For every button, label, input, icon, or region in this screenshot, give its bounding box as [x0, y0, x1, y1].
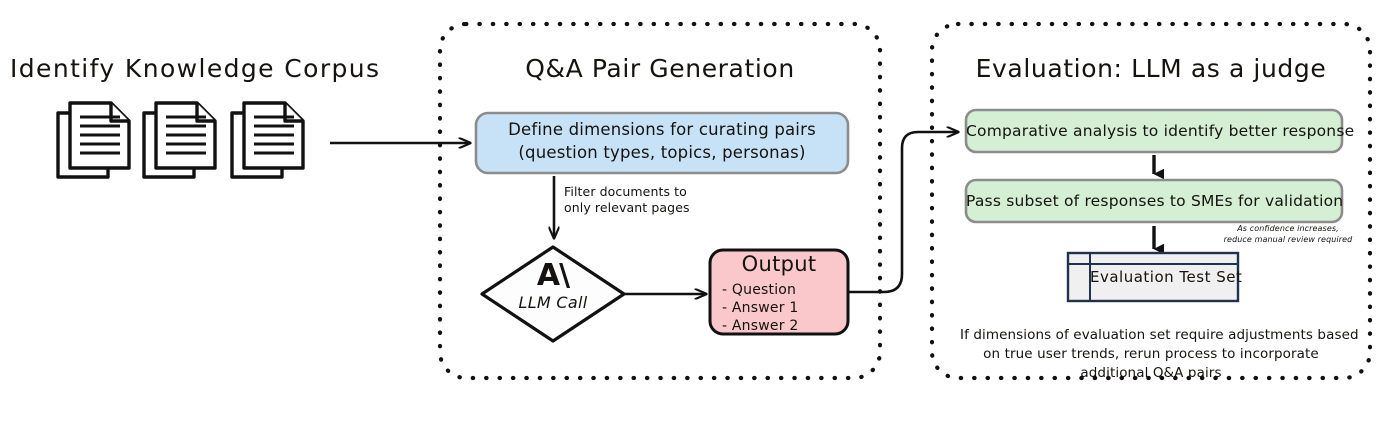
- panel-title-evaluation: Evaluation: LLM as a judge: [932, 54, 1370, 84]
- document-stack-icon-3: [232, 103, 303, 177]
- document-stack-icon-1: [58, 103, 129, 177]
- node-output-item-question: - Question: [722, 282, 848, 299]
- arrow-output-to-comparative: [848, 132, 958, 292]
- edge-label-filter-documents: Filter documents to only relevant pages: [564, 184, 734, 217]
- node-llm-call-label: LLM Call: [483, 294, 623, 313]
- diagram-canvas: Identify Knowledge Corpus Q&A Pair Gener…: [0, 0, 1400, 421]
- anthropic-ai-glyph-icon: A\: [483, 258, 623, 293]
- panel-title-qa-generation: Q&A Pair Generation: [440, 54, 880, 84]
- node-define-dimensions-line2: (question types, topics, personas): [476, 143, 848, 162]
- node-output-item-answer-1: - Answer 1: [722, 300, 848, 317]
- node-define-dimensions-line1: Define dimensions for curating pairs: [476, 120, 848, 139]
- caption-rerun-note: If dimensions of evaluation set require …: [960, 326, 1342, 383]
- node-pass-subset-label: Pass subset of responses to SMEs for val…: [966, 192, 1342, 210]
- node-output-title: Output: [710, 252, 848, 277]
- node-output-item-answer-2: - Answer 2: [722, 318, 848, 335]
- panel-title-corpus: Identify Knowledge Corpus: [10, 54, 370, 84]
- document-stack-icon-2: [144, 103, 215, 177]
- edge-label-confidence-note: As confidence increases, reduce manual r…: [1218, 224, 1358, 246]
- node-comparative-analysis-label: Comparative analysis to identify better …: [966, 122, 1342, 140]
- node-evaluation-test-set-label: Evaluation Test Set: [1090, 269, 1238, 287]
